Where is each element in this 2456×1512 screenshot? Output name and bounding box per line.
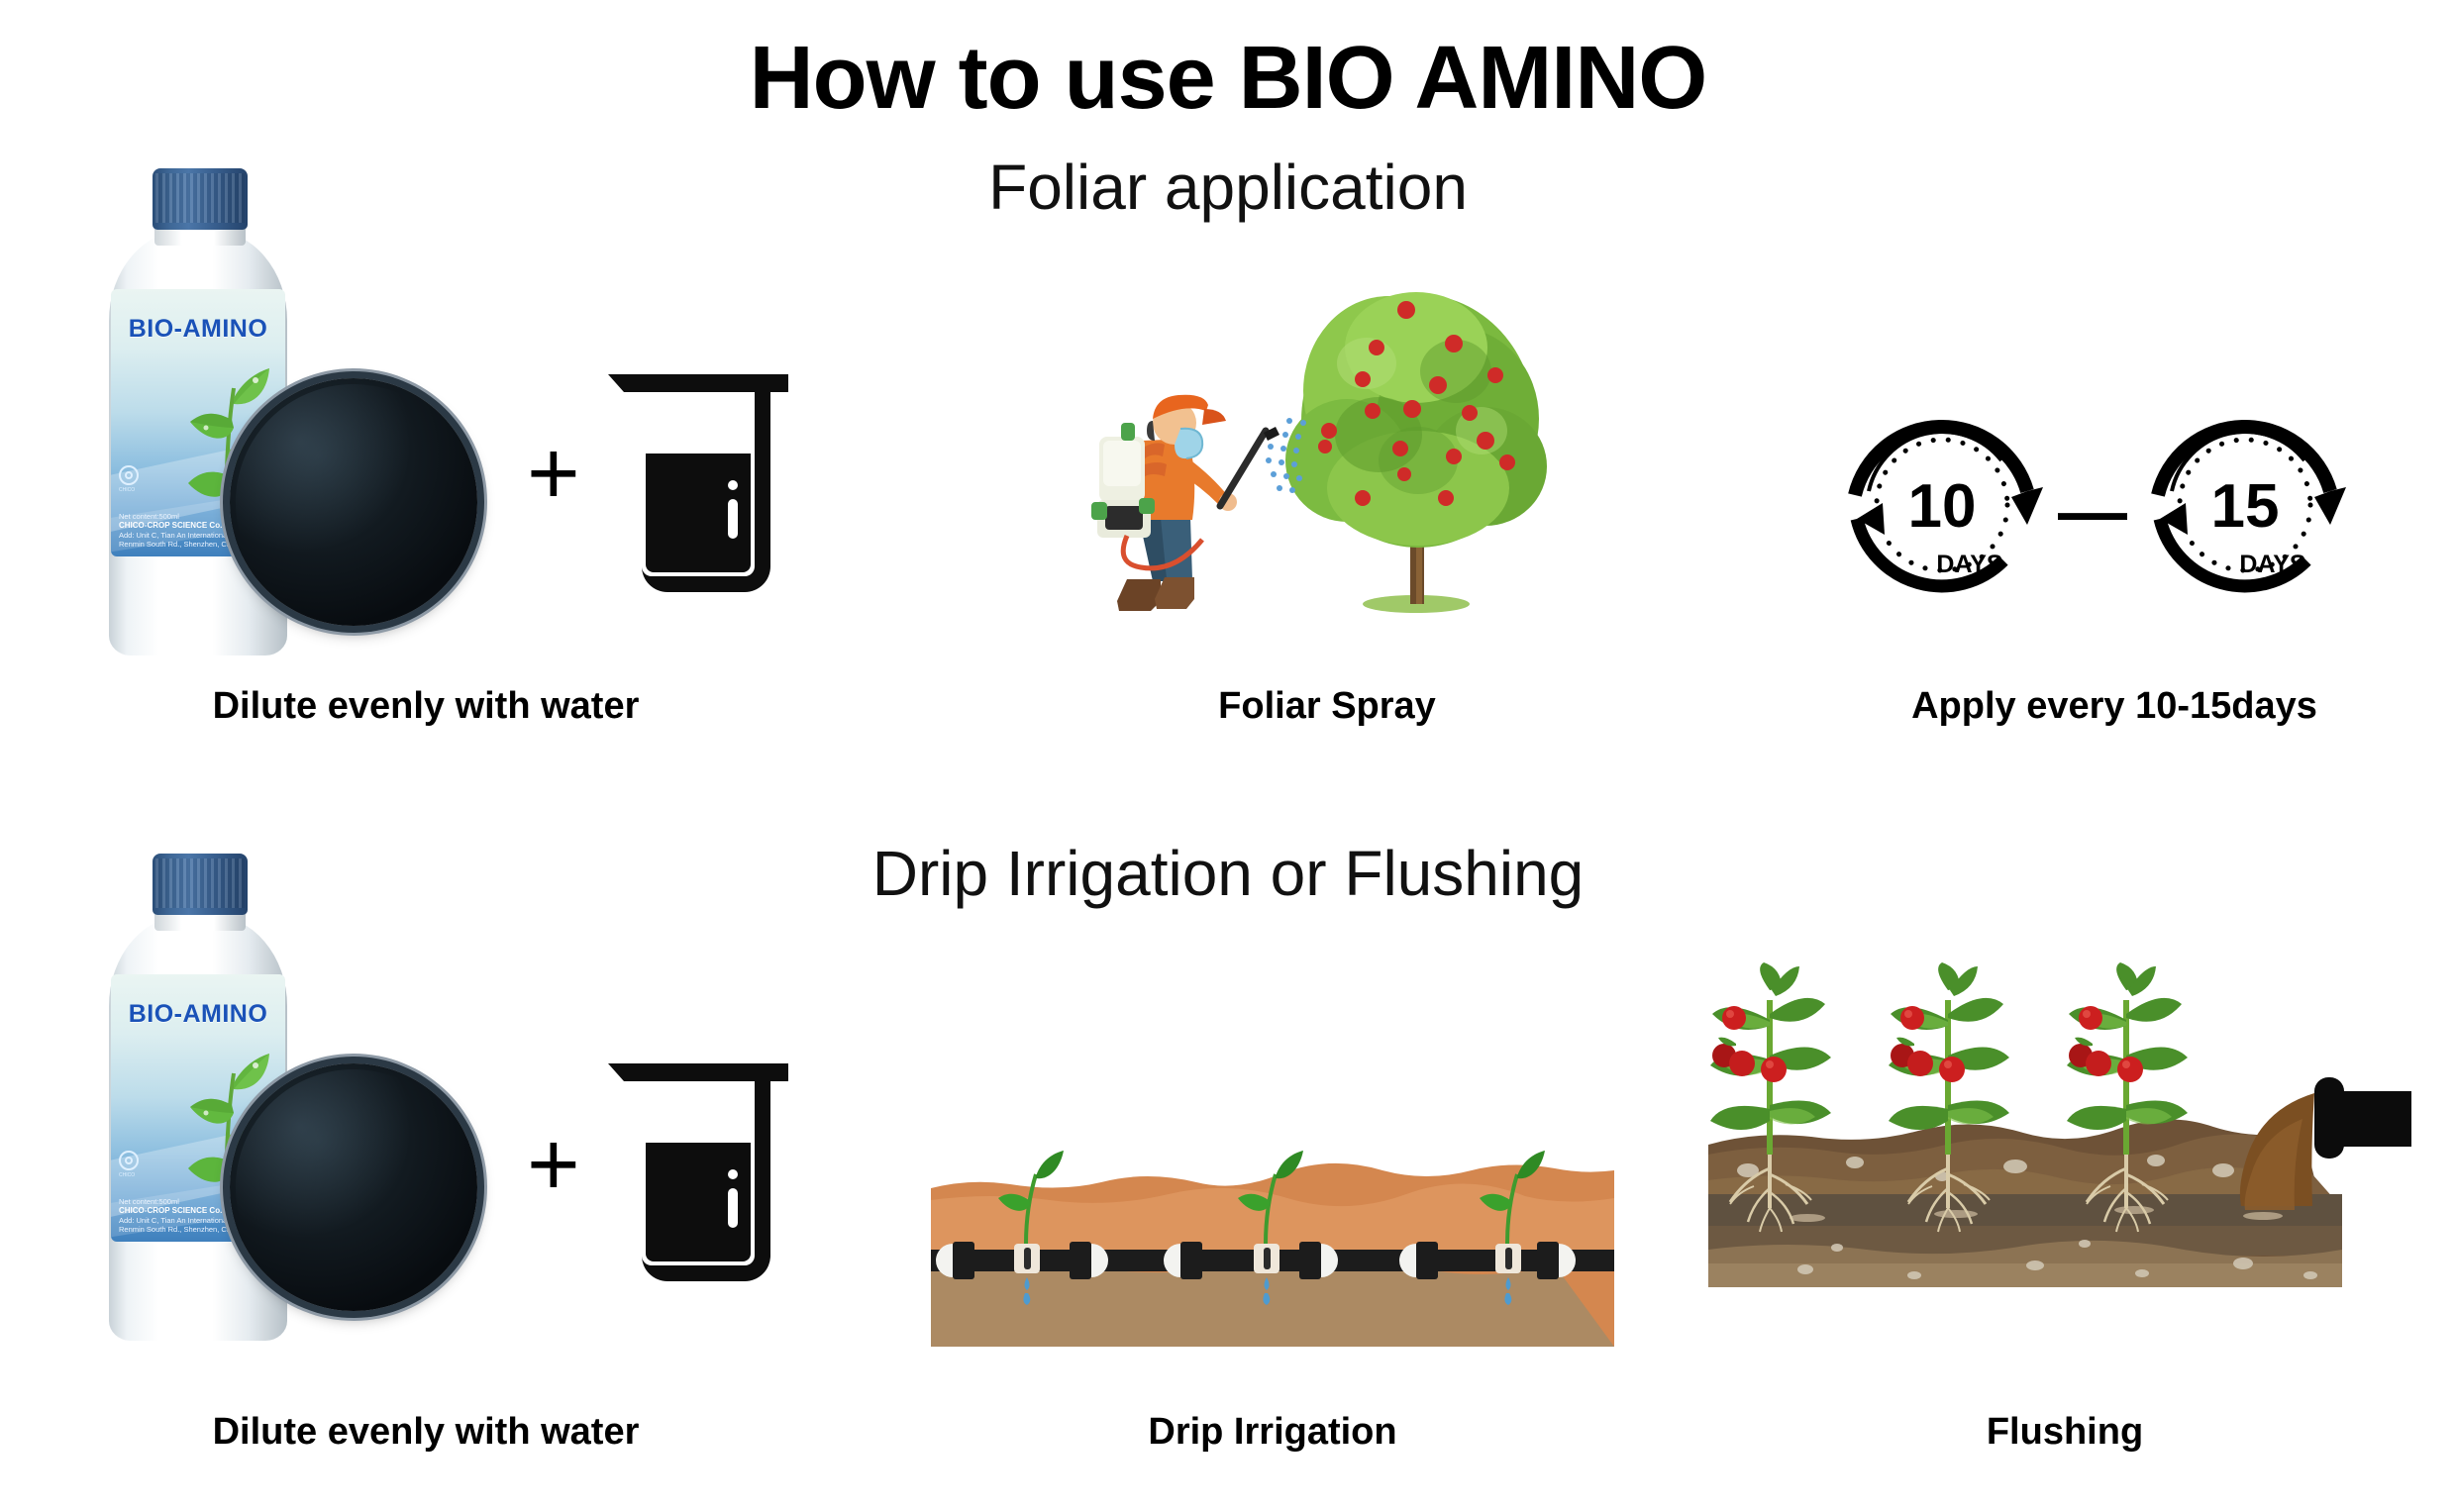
certification-mark-icon: CHICO <box>119 1151 145 1182</box>
step-dilute-drip: BIO-AMINO <box>79 854 772 1359</box>
flushing-illustration <box>1708 960 2421 1347</box>
caption-dilute-foliar: Dilute evenly with water <box>79 685 772 728</box>
range-dash: — <box>2058 472 2127 550</box>
bottle-cap-icon <box>153 168 248 230</box>
step-foliar-spray <box>1070 252 1585 649</box>
badge-number-10: 10 <box>1908 472 1977 541</box>
bio-amino-bottle-group-2: BIO-AMINO <box>79 854 505 1349</box>
step-apply-interval: 10 DAYS — 15 DAYS <box>1837 396 2392 634</box>
caption-drip-irrigation: Drip Irrigation <box>931 1411 1614 1454</box>
interval-badges: 10 DAYS — 15 DAYS <box>1837 396 2392 634</box>
step-flushing <box>1708 960 2421 1347</box>
poster-root: How to use BIO AMINO Foliar application … <box>0 0 2456 1512</box>
bio-amino-bottle-group: BIO-AMINO <box>79 168 505 663</box>
pipe-outlet-icon <box>2314 1077 2411 1159</box>
badge-unit-15: DAYS <box>2239 551 2305 578</box>
certification-mark-icon: CHICO <box>119 465 145 497</box>
beaker-icon <box>594 362 802 610</box>
beaker-icon <box>594 1052 802 1299</box>
drip-irrigation-illustration <box>931 1149 1614 1347</box>
bottle-brand-text: BIO-AMINO <box>111 1000 285 1029</box>
foliar-spray-illustration <box>1070 252 1585 649</box>
caption-foliar-spray: Foliar Spray <box>1070 685 1585 728</box>
farmer-sprayer-icon <box>1091 395 1279 611</box>
step-drip-irrigation <box>931 1149 1614 1347</box>
fruit-tree-icon <box>1285 292 1547 613</box>
bottle-brand-text: BIO-AMINO <box>111 315 285 344</box>
page-title: How to use BIO AMINO <box>0 28 2456 130</box>
caption-dilute-drip: Dilute evenly with water <box>79 1411 772 1454</box>
plus-sign-icon: + <box>527 428 580 519</box>
mark-label: CHICO <box>119 487 145 493</box>
caption-flushing: Flushing <box>1708 1411 2421 1454</box>
caption-apply-interval: Apply every 10-15days <box>1837 685 2392 728</box>
badge-number-15: 15 <box>2211 472 2280 541</box>
step-dilute-foliar: BIO-AMINO <box>79 168 772 663</box>
badge-unit-10: DAYS <box>1936 551 2002 578</box>
bottle-cap-icon <box>153 854 248 915</box>
mark-label: CHICO <box>119 1172 145 1178</box>
plus-sign-icon: + <box>527 1119 580 1210</box>
